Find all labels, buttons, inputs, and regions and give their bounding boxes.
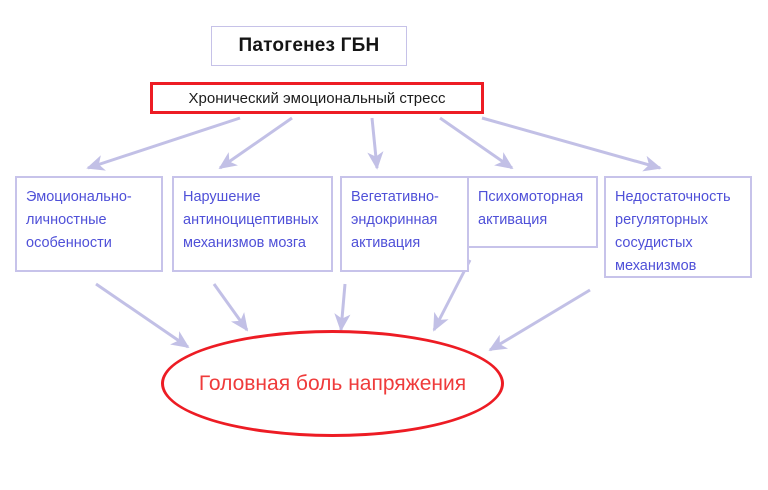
arrow-factor-0-to-outcome [96, 284, 188, 347]
factor-box-antinociceptive-disruption: Нарушение антиноцицептивных механизмов м… [172, 176, 333, 272]
root-cause-box: Хронический эмоциональный стресс [150, 82, 484, 114]
factor-label-vegetative-endocrine: Вегетативно- эндокринная активация [351, 186, 460, 255]
factor-box-psychomotor-activation: Психомоторная активация [467, 176, 598, 248]
arrows-from-root-cause [88, 118, 660, 168]
diagram-canvas: Патогенез ГБН Хронический эмоциональный … [0, 0, 768, 490]
factor-label-psychomotor-activation: Психомоторная активация [478, 186, 589, 232]
arrow-factor-2-to-outcome [341, 284, 345, 330]
arrow-root-to-factor-4 [482, 118, 660, 168]
arrow-root-to-factor-1 [220, 118, 292, 168]
factor-label-emotional-personality: Эмоционально- личностные особенности [26, 186, 154, 255]
arrow-factor-4-to-outcome [490, 290, 590, 350]
arrow-root-to-factor-0 [88, 118, 240, 168]
factor-label-antinociceptive-disruption: Нарушение антиноцицептивных механизмов м… [183, 186, 324, 255]
diagram-title-label: Патогенез ГБН [239, 35, 380, 57]
factor-box-vascular-regulation-deficiency: Недостаточность регуляторных сосудистых … [604, 176, 752, 278]
factor-box-emotional-personality: Эмоционально- личностные особенности [15, 176, 163, 272]
factor-label-vascular-regulation-deficiency: Недостаточность регуляторных сосудистых … [615, 186, 743, 278]
arrow-root-to-factor-2 [372, 118, 377, 168]
arrow-factor-1-to-outcome [214, 284, 247, 330]
diagram-title-box: Патогенез ГБН [211, 26, 407, 66]
arrow-root-to-factor-3 [440, 118, 512, 168]
factor-box-vegetative-endocrine: Вегетативно- эндокринная активация [340, 176, 469, 272]
outcome-label: Головная боль напряжения [199, 372, 466, 396]
root-cause-label: Хронический эмоциональный стресс [189, 90, 446, 107]
outcome-ellipse: Головная боль напряжения [161, 330, 504, 437]
